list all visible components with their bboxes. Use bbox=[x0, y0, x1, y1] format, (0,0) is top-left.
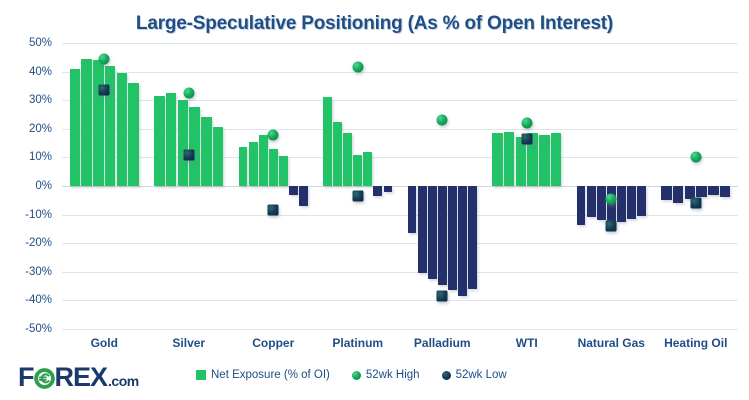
bar bbox=[504, 132, 515, 186]
bar bbox=[343, 133, 352, 186]
bar bbox=[617, 186, 626, 222]
bar bbox=[418, 186, 427, 273]
logo-letters-rex: REX bbox=[55, 364, 108, 391]
y-axis-tick-label: 0% bbox=[0, 180, 52, 192]
legend-item[interactable]: Net Exposure (% of OI) bbox=[196, 369, 330, 381]
y-axis-tick-label: 30% bbox=[0, 94, 52, 106]
bar bbox=[720, 186, 731, 197]
legend-label: Net Exposure (% of OI) bbox=[211, 369, 330, 381]
y-axis-tick-label: -20% bbox=[0, 237, 52, 249]
bar-group bbox=[400, 43, 485, 329]
bar-group bbox=[569, 43, 654, 329]
bar bbox=[239, 147, 248, 186]
y-axis-tick-label: 40% bbox=[0, 66, 52, 78]
marker-52wk-high bbox=[437, 115, 448, 126]
legend-swatch-52wk-high-icon bbox=[352, 371, 361, 380]
x-axis-category-label: WTI bbox=[516, 336, 538, 350]
bar bbox=[627, 186, 636, 219]
x-axis-category-label: Gold bbox=[91, 336, 118, 350]
marker-52wk-low bbox=[437, 291, 448, 302]
bar bbox=[117, 73, 128, 186]
x-axis-category-label: Copper bbox=[252, 336, 294, 350]
y-axis-tick-label: -40% bbox=[0, 294, 52, 306]
x-axis-category-label: Silver bbox=[172, 336, 205, 350]
bar bbox=[333, 122, 342, 186]
marker-52wk-low bbox=[690, 198, 701, 209]
bar bbox=[587, 186, 596, 217]
bar bbox=[323, 97, 332, 186]
bar bbox=[269, 149, 278, 186]
bar-group bbox=[231, 43, 316, 329]
legend-label: 52wk High bbox=[366, 369, 420, 381]
x-axis-category-label: Platinum bbox=[332, 336, 383, 350]
bar bbox=[696, 186, 707, 197]
marker-52wk-high bbox=[352, 62, 363, 73]
bar bbox=[353, 155, 362, 186]
bar bbox=[128, 83, 139, 186]
logo-dotcom: .com bbox=[108, 373, 139, 389]
bar bbox=[373, 186, 382, 196]
bar-group bbox=[316, 43, 401, 329]
x-axis-category-label: Palladium bbox=[414, 336, 471, 350]
bar bbox=[70, 69, 81, 186]
bar-group bbox=[485, 43, 570, 329]
legend-label: 52wk Low bbox=[456, 369, 507, 381]
bar bbox=[154, 96, 165, 186]
bar bbox=[201, 117, 212, 186]
plot-area bbox=[62, 43, 738, 329]
bar bbox=[81, 59, 92, 186]
logo-euro-o-icon bbox=[34, 367, 55, 388]
y-axis-tick-label: 10% bbox=[0, 151, 52, 163]
bar bbox=[408, 186, 417, 233]
bar bbox=[363, 152, 372, 186]
bar bbox=[249, 142, 258, 186]
marker-52wk-low bbox=[352, 191, 363, 202]
bar-group bbox=[654, 43, 739, 329]
bar bbox=[708, 186, 719, 195]
marker-52wk-high bbox=[606, 193, 617, 204]
bar bbox=[384, 186, 393, 192]
bar bbox=[492, 133, 503, 186]
forex-logo: F REX .com bbox=[18, 364, 139, 391]
x-axis-category-label: Heating Oil bbox=[664, 336, 727, 350]
bar-group bbox=[62, 43, 147, 329]
gridline bbox=[62, 329, 738, 330]
bar bbox=[166, 93, 177, 186]
marker-52wk-high bbox=[521, 118, 532, 129]
marker-52wk-high bbox=[690, 152, 701, 163]
bar bbox=[259, 135, 268, 186]
chart-legend: Net Exposure (% of OI)52wk High52wk Low bbox=[196, 369, 507, 381]
legend-swatch-52wk-low-icon bbox=[442, 371, 451, 380]
bar bbox=[516, 137, 527, 186]
chart-title: Large-Speculative Positioning (As % of O… bbox=[0, 13, 749, 35]
bar bbox=[458, 186, 467, 296]
bar bbox=[661, 186, 672, 200]
logo-letter-f: F bbox=[18, 364, 34, 391]
bar bbox=[597, 186, 606, 220]
bar bbox=[93, 60, 104, 186]
marker-52wk-low bbox=[268, 205, 279, 216]
x-axis-category-label: Natural Gas bbox=[578, 336, 645, 350]
marker-52wk-high bbox=[183, 88, 194, 99]
bar bbox=[539, 135, 550, 186]
marker-52wk-low bbox=[521, 133, 532, 144]
y-axis-tick-label: -30% bbox=[0, 266, 52, 278]
bar bbox=[468, 186, 477, 289]
bar-group bbox=[147, 43, 232, 329]
bar bbox=[289, 186, 298, 195]
legend-item[interactable]: 52wk High bbox=[352, 369, 420, 381]
bar bbox=[551, 133, 562, 186]
bar bbox=[299, 186, 308, 206]
marker-52wk-low bbox=[183, 149, 194, 160]
y-axis-tick-label: 20% bbox=[0, 123, 52, 135]
bar bbox=[673, 186, 684, 203]
bar bbox=[577, 186, 586, 225]
bar bbox=[438, 186, 447, 285]
bar bbox=[428, 186, 437, 279]
bar bbox=[279, 156, 288, 186]
legend-swatch-net-exposure bbox=[196, 370, 206, 380]
legend-item[interactable]: 52wk Low bbox=[442, 369, 507, 381]
y-axis-tick-label: -10% bbox=[0, 209, 52, 221]
marker-52wk-low bbox=[99, 85, 110, 96]
chart-container: Large-Speculative Positioning (As % of O… bbox=[0, 0, 749, 400]
marker-52wk-low bbox=[606, 221, 617, 232]
bar bbox=[213, 127, 224, 186]
logo-text: F REX bbox=[18, 364, 107, 391]
bar bbox=[637, 186, 646, 216]
marker-52wk-high bbox=[99, 53, 110, 64]
bar bbox=[448, 186, 457, 290]
bar bbox=[189, 107, 200, 186]
marker-52wk-high bbox=[268, 129, 279, 140]
bar bbox=[178, 100, 189, 186]
y-axis-tick-label: 50% bbox=[0, 37, 52, 49]
y-axis-tick-label: -50% bbox=[0, 323, 52, 335]
